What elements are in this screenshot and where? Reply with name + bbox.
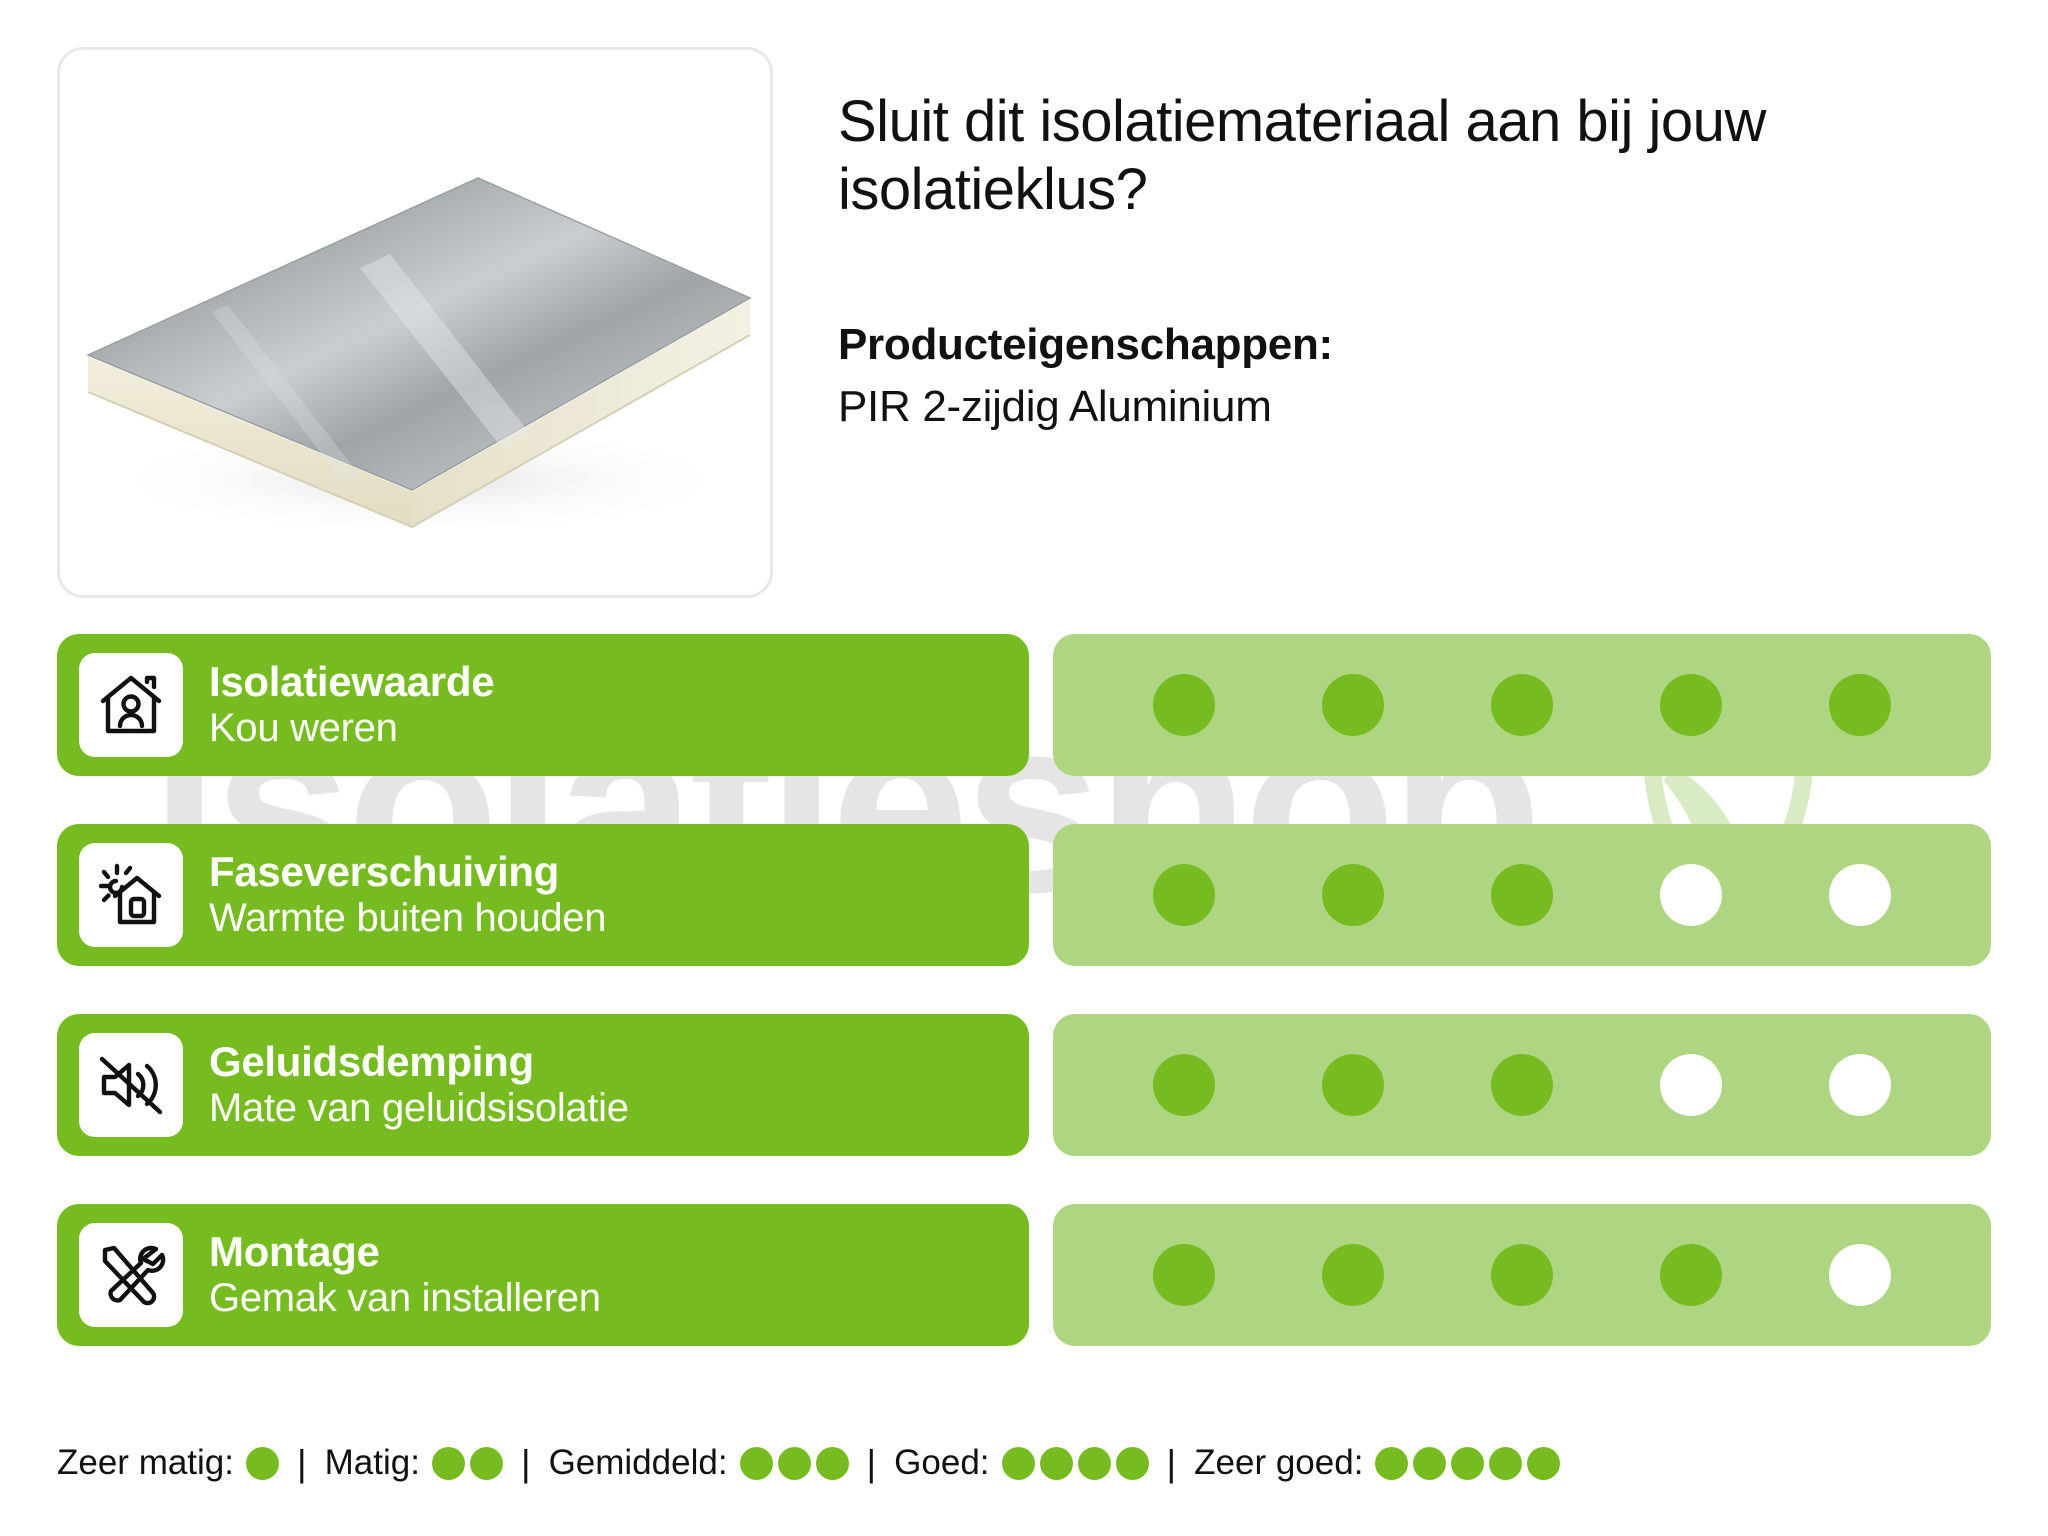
legend-dot [1116,1447,1149,1480]
legend-item: Matig: [325,1443,503,1483]
tools-icon [79,1223,183,1327]
property-row: GeluidsdempingMate van geluidsisolatie [0,992,2048,1182]
product-image-card[interactable] [57,47,773,598]
legend-separator: | [867,1445,877,1482]
legend-dot [1527,1447,1560,1480]
property-rows: IsolatiewaardeKou werenFaseverschuivingW… [0,612,2048,1372]
legend-item: Zeer goed: [1194,1443,1560,1483]
sun-house-icon [79,843,183,947]
property-score-pill [1053,1204,1991,1346]
score-dot-empty [1829,1054,1891,1116]
score-dot-filled [1491,1244,1553,1306]
property-text: FaseverschuivingWarmte buiten houden [209,848,606,942]
legend-dots [1375,1447,1560,1480]
property-label-pill[interactable]: IsolatiewaardeKou weren [57,634,1029,776]
score-dot-filled [1829,674,1891,736]
legend-dot [1489,1447,1522,1480]
score-dot-filled [1153,1244,1215,1306]
score-dot-empty [1829,1244,1891,1306]
score-dot-empty [1660,864,1722,926]
legend-dot [778,1447,811,1480]
legend-dot [1040,1447,1073,1480]
product-image [60,50,770,595]
score-dot-filled [1491,674,1553,736]
speaker-muted-icon [79,1033,183,1137]
legend-dots [246,1447,279,1480]
score-dot-filled [1153,864,1215,926]
legend-dot [432,1447,465,1480]
property-label-pill[interactable]: GeluidsdempingMate van geluidsisolatie [57,1014,1029,1156]
score-dot-filled [1322,674,1384,736]
score-dot-filled [1153,674,1215,736]
score-dot-filled [1153,1054,1215,1116]
property-title: Geluidsdemping [209,1038,629,1085]
property-label-pill[interactable]: MontageGemak van installeren [57,1204,1029,1346]
legend-item: Gemiddeld: [549,1443,849,1483]
property-subtitle: Kou weren [209,705,494,752]
score-dot-empty [1829,864,1891,926]
score-dot-filled [1322,1244,1384,1306]
property-row: MontageGemak van installeren [0,1182,2048,1372]
legend-dot [816,1447,849,1480]
product-properties-value: PIR 2-zijdig Aluminium [838,382,1272,432]
legend-dot [246,1447,279,1480]
legend-label: Zeer goed: [1194,1443,1363,1483]
product-properties-title: Producteigenschappen: [838,320,1333,370]
property-row: IsolatiewaardeKou weren [0,612,2048,802]
legend-dot [1078,1447,1111,1480]
legend-label: Gemiddeld: [549,1443,728,1483]
score-dot-filled [1660,1244,1722,1306]
legend-dot [1375,1447,1408,1480]
property-score-pill [1053,634,1991,776]
score-dot-filled [1491,1054,1553,1116]
legend-separator: | [1167,1445,1177,1482]
property-title: Montage [209,1228,601,1275]
property-score-pill [1053,824,1991,966]
legend-item: Goed: [894,1443,1148,1483]
property-subtitle: Warmte buiten houden [209,895,606,942]
legend-label: Goed: [894,1443,989,1483]
score-dot-filled [1322,1054,1384,1116]
legend-dot [1451,1447,1484,1480]
property-text: MontageGemak van installeren [209,1228,601,1322]
legend-dot [470,1447,503,1480]
property-row: FaseverschuivingWarmte buiten houden [0,802,2048,992]
legend-separator: | [521,1445,531,1482]
legend-dot [1413,1447,1446,1480]
page-title: Sluit dit isolatiemateriaal aan bij jouw… [838,88,1958,224]
header-section: Sluit dit isolatiemateriaal aan bij jouw… [0,0,2048,612]
score-dot-filled [1491,864,1553,926]
property-subtitle: Mate van geluidsisolatie [209,1085,629,1132]
legend-label: Zeer matig: [57,1443,234,1483]
property-score-pill [1053,1014,1991,1156]
legend: Zeer matig:|Matig:|Gemiddeld:|Goed:|Zeer… [57,1443,2007,1483]
score-dot-empty [1660,1054,1722,1116]
property-title: Isolatiewaarde [209,658,494,705]
property-text: IsolatiewaardeKou weren [209,658,494,752]
legend-label: Matig: [325,1443,420,1483]
score-dot-filled [1660,674,1722,736]
property-subtitle: Gemak van installeren [209,1275,601,1322]
legend-dot [1002,1447,1035,1480]
score-dot-filled [1322,864,1384,926]
legend-item: Zeer matig: [57,1443,279,1483]
property-text: GeluidsdempingMate van geluidsisolatie [209,1038,629,1132]
legend-separator: | [297,1445,307,1482]
property-label-pill[interactable]: FaseverschuivingWarmte buiten houden [57,824,1029,966]
legend-dots [1002,1447,1149,1480]
house-person-icon [79,653,183,757]
legend-dot [740,1447,773,1480]
legend-dots [432,1447,503,1480]
property-title: Faseverschuiving [209,848,606,895]
legend-dots [740,1447,849,1480]
